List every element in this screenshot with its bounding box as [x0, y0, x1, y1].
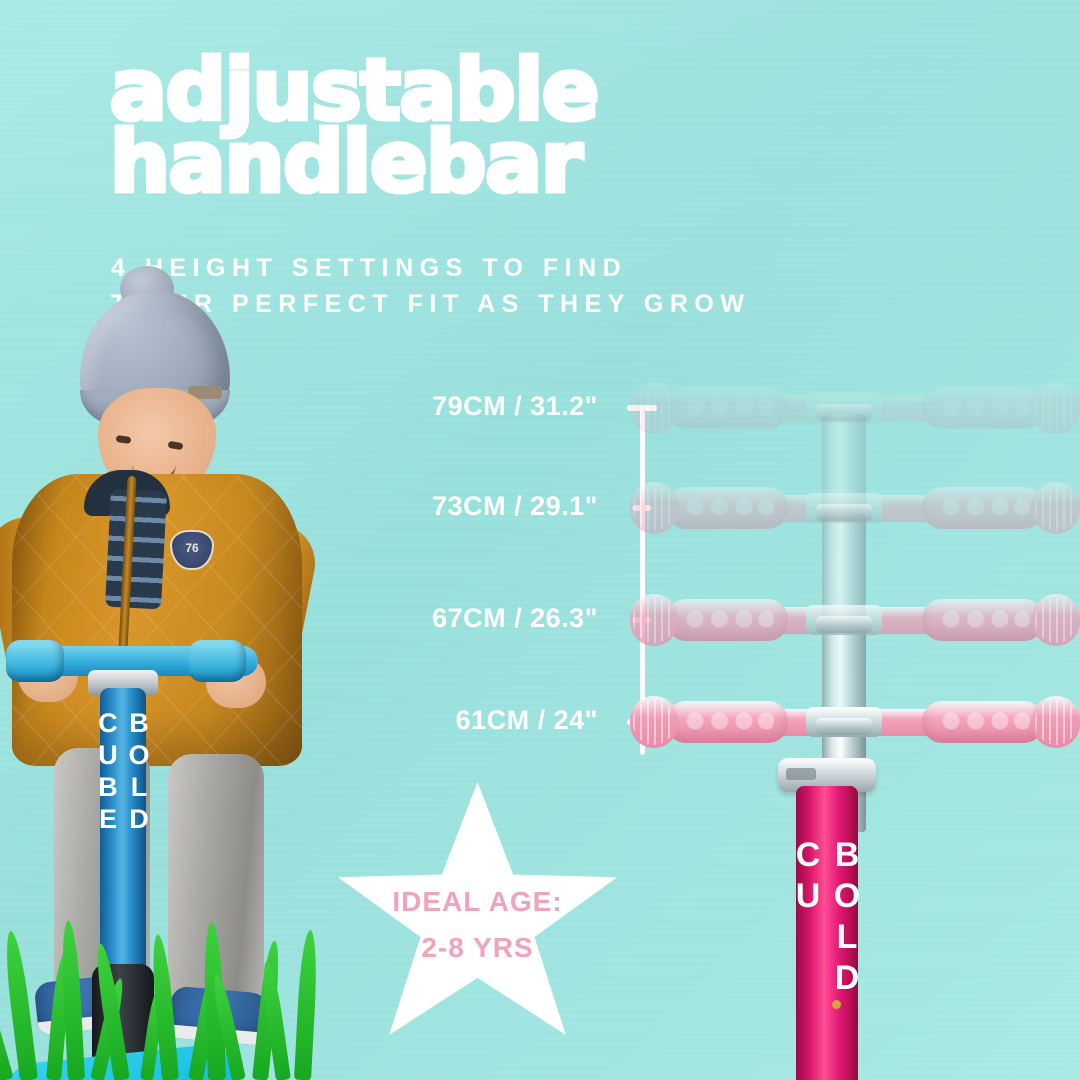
grip-cap-left	[630, 382, 678, 434]
grip-left	[666, 487, 788, 529]
grip-grooves-right	[936, 608, 1030, 630]
stem-joint-2	[816, 504, 872, 521]
ideal-age-label: IDEAL AGE:	[335, 886, 620, 918]
cap-ribs-right	[1035, 699, 1077, 745]
grip-grooves-right	[936, 710, 1030, 732]
grip-grooves-right	[936, 396, 1030, 418]
cap-ribs-right	[1035, 597, 1077, 643]
pink-pole-brand-text: BOLD CU	[788, 836, 866, 1080]
pink-pole-brand: BOLD CU	[796, 836, 858, 1080]
poster-canvas: adjustable handlebar 4 HEIGHT SETTINGS T…	[0, 0, 1080, 1080]
cap-ribs-left	[633, 597, 675, 643]
grip-grooves-left	[680, 710, 774, 732]
stem-joint-4	[816, 718, 872, 735]
cap-ribs-left	[633, 385, 675, 431]
grip-right	[922, 599, 1044, 641]
stem-joint-1	[816, 404, 872, 421]
measurement-label-79: 79CM / 31.2"	[432, 391, 598, 422]
ideal-age-badge: IDEAL AGE: 2-8 YRS	[335, 782, 620, 1054]
grip-cap-right	[1032, 594, 1080, 646]
grip-grooves-left	[680, 608, 774, 630]
grip-cap-left	[630, 696, 678, 748]
grip-right	[922, 387, 1044, 429]
grip-cap-left	[630, 482, 678, 534]
grip-cap-right	[1032, 382, 1080, 434]
pole-screw	[832, 1000, 841, 1009]
grip-left	[666, 701, 788, 743]
grip-right	[922, 701, 1044, 743]
cap-ribs-right	[1035, 385, 1077, 431]
grip-cap-right	[1032, 696, 1080, 748]
measurement-label-73: 73CM / 29.1"	[432, 491, 598, 522]
star-text: IDEAL AGE: 2-8 YRS	[335, 886, 620, 964]
ideal-age-value: 2-8 YRS	[335, 932, 620, 964]
grip-grooves-right	[936, 496, 1030, 518]
cap-ribs-right	[1035, 485, 1077, 531]
cap-ribs-left	[633, 699, 675, 745]
grip-cap-right	[1032, 482, 1080, 534]
grip-right	[922, 487, 1044, 529]
grip-left	[666, 387, 788, 429]
grip-left	[666, 599, 788, 641]
cap-ribs-left	[633, 485, 675, 531]
grip-grooves-left	[680, 396, 774, 418]
stem-joint-3	[816, 616, 872, 633]
grip-grooves-left	[680, 496, 774, 518]
measurement-label-67: 67CM / 26.3"	[432, 603, 598, 634]
grip-cap-left	[630, 594, 678, 646]
measurement-label-61: 61CM / 24"	[456, 705, 598, 736]
